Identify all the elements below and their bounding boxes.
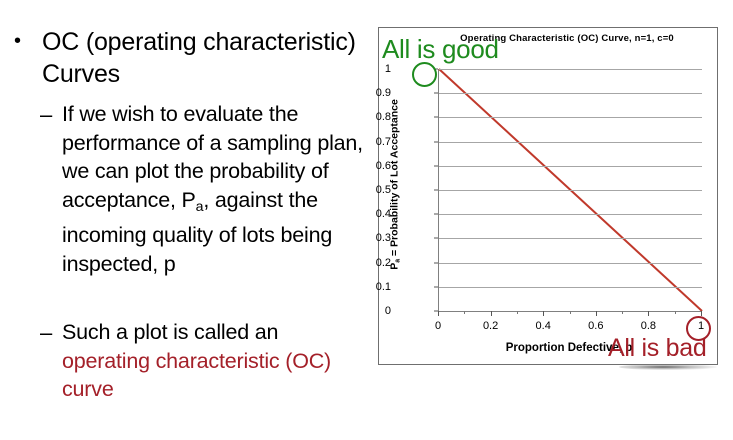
y-axis-tick-mark [434,238,438,239]
gridline [439,287,702,288]
circle-highlight-bad-icon [686,316,711,341]
y-axis-tick-label: 0.4 [367,208,391,220]
x-axis-tick-label: 0.4 [526,320,560,332]
x-axis-tick-label: 0 [421,320,455,332]
x-axis-minor-tick [464,311,465,314]
x-axis-tick-mark [648,311,649,316]
gridline [439,166,702,167]
bullet-level1: • OC (operating characteristic) Curves [14,26,364,90]
x-axis-minor-tick [622,311,623,314]
y-axis-tick-label: 0.5 [367,184,391,196]
dash-marker-icon: – [40,100,62,129]
y-axis-tick-mark [434,190,438,191]
y-axis-tick-label: 0.9 [367,87,391,99]
x-axis-minor-tick [675,311,676,314]
y-axis-tick-mark [434,117,438,118]
annotation-all-is-good: All is good [382,36,499,62]
x-axis-tick-mark [491,311,492,316]
plain-text-segment: Such a plot is called an [62,320,278,344]
x-axis-tick-mark [543,311,544,316]
gridline [439,190,702,191]
x-axis-tick-mark [438,311,439,316]
slide-text-column: • OC (operating characteristic) Curves –… [0,0,372,440]
bullet-level2-second: – Such a plot is called an operating cha… [40,318,365,404]
x-axis-tick-label: 0.6 [579,320,613,332]
circle-highlight-good-icon [412,62,437,87]
bullet-marker-icon: • [14,26,42,56]
plot-area [438,69,702,312]
x-axis-tick-label: 0.8 [631,320,665,332]
gridline [439,263,702,264]
y-axis-tick-label: 0.2 [367,257,391,269]
gridline [439,214,702,215]
y-axis-tick-label: 0.6 [367,160,391,172]
y-axis-title-subscript: a [394,259,401,263]
gridline [439,93,702,94]
y-axis-tick-label: 0 [367,305,391,317]
gridline [439,69,702,70]
y-axis-tick-mark [434,165,438,166]
y-axis-tick-label: 0.3 [367,232,391,244]
bullet-level2-first-text: If we wish to evaluate the performance o… [62,100,365,279]
x-axis-tick-mark [701,311,702,316]
bullet-level2-second-text: Such a plot is called an operating chara… [62,318,365,404]
bullet-level1-text: OC (operating characteristic) Curves [42,26,364,90]
annotation-all-is-bad: All is bad [608,336,706,361]
y-axis-tick-label: 0.7 [367,136,391,148]
y-axis-tick-mark [434,141,438,142]
gridline [439,238,702,239]
y-axis-tick-mark [434,286,438,287]
gridline [439,142,702,143]
gridline [439,117,702,118]
x-axis-tick-label: 0.2 [474,320,508,332]
y-axis-tick-mark [434,262,438,263]
x-axis-minor-tick [570,311,571,314]
bullet-level2-first: – If we wish to evaluate the performance… [40,100,365,279]
x-axis-minor-tick [517,311,518,314]
x-axis-tick-mark [596,311,597,316]
y-axis-tick-mark [434,214,438,215]
dash-marker-icon: – [40,318,62,347]
y-axis-tick-mark [434,93,438,94]
y-axis-tick-label: 0.1 [367,281,391,293]
y-axis-tick-label: 1 [367,63,391,75]
y-axis-tick-label: 0.8 [367,111,391,123]
highlighted-term: operating characteristic (OC) curve [62,349,331,402]
scan-smudge-artifact [619,364,717,370]
